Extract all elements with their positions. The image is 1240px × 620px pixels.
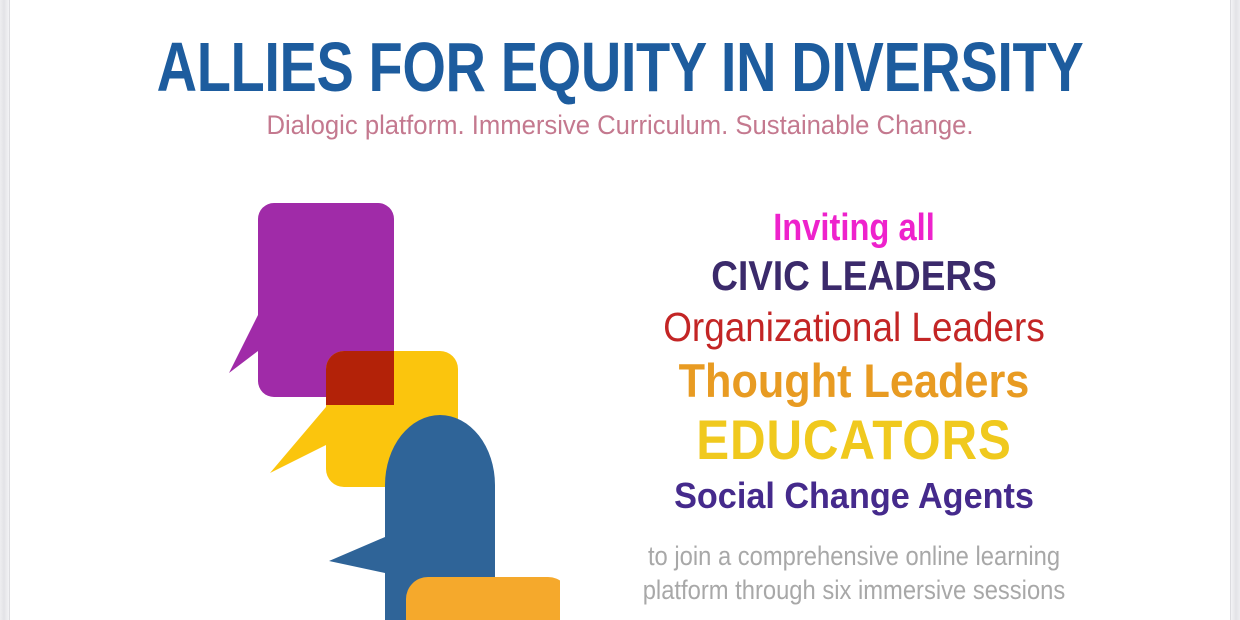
page-subtitle: Dialogic platform. Immersive Curriculum.… [41,104,1200,142]
audience-body-line-1: to join a comprehensive online learning [625,539,1083,573]
poster-header: ALLIES FOR EQUITY IN DIVERSITY Dialogic … [10,0,1230,142]
audience-civic-leaders: CIVIC LEADERS [625,251,1083,301]
orange-speech-bubble [406,577,560,620]
speech-bubbles-illustration [200,185,560,620]
audience-educators: EDUCATORS [625,409,1083,471]
audience-list: Inviting all CIVIC LEADERS Organizationa… [594,205,1114,607]
audience-social-change-agents: Social Change Agents [607,471,1101,521]
page-gutter-left [0,0,9,620]
audience-thought-leaders: Thought Leaders [615,353,1093,409]
audience-invitation-body: to join a comprehensive online learning … [625,521,1083,607]
audience-body-line-2: platform through six immersive sessions [625,573,1083,607]
audience-organizational-leaders: Organizational Leaders [620,301,1088,353]
page-title: ALLIES FOR EQUITY IN DIVERSITY [132,0,1108,104]
poster-screen: ALLIES FOR EQUITY IN DIVERSITY Dialogic … [0,0,1240,620]
page-gutter-right [1231,0,1240,620]
overlap-purple-yellow [326,351,394,405]
page-edge-right [1230,0,1231,620]
audience-inviting-all: Inviting all [630,205,1077,251]
speech-bubbles-svg [200,185,560,620]
page-sheet: ALLIES FOR EQUITY IN DIVERSITY Dialogic … [10,0,1230,620]
